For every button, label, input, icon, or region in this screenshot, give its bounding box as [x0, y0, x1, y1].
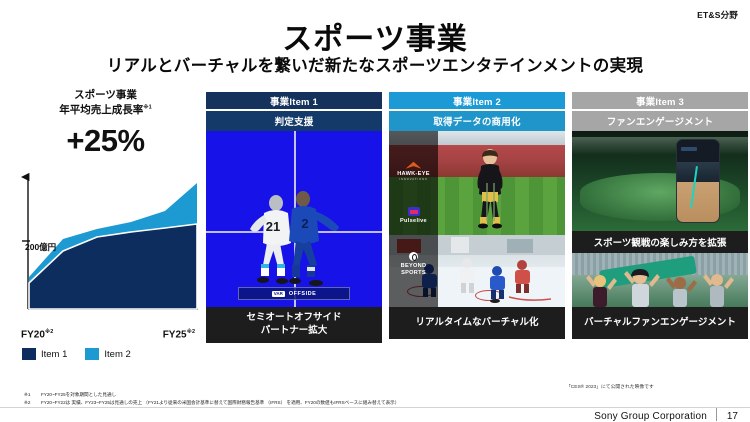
- kpi-chart-block: スポーツ事業 年平均売上成長率※1 +25%: [8, 88, 203, 360]
- panel-3-head: 事業Item 3: [572, 92, 748, 109]
- growth-area-chart: 200億円 FY20※2 FY25※2: [8, 169, 203, 339]
- legend-swatch-item2: [85, 348, 99, 360]
- phone-status-area: [677, 140, 719, 162]
- panel-3-media: スポーツ観戦の楽しみ方を拡張: [572, 131, 748, 307]
- logo-beyond-sports-label: BEYOND SPORTS: [389, 263, 438, 276]
- footnote-text-2: FY20~FY22は 実績、FY23~FY25は見通しの売上 （FY21より従来…: [41, 399, 399, 407]
- footnote-text-1: FY20~FY25を対象期間とした見通し: [41, 391, 116, 399]
- kpi-label-superscript: ※1: [143, 105, 151, 111]
- player-blue: 2: [289, 191, 339, 286]
- legend-label-item2: Item 2: [104, 349, 130, 360]
- panel-1-head: 事業Item 1: [206, 92, 382, 109]
- footer-brand: Sony Group Corporation: [594, 411, 707, 422]
- legend-item-item1: Item 1: [22, 348, 67, 360]
- footer-separator: [716, 408, 717, 421]
- kpi-label: スポーツ事業 年平均売上成長率※1: [8, 88, 203, 118]
- logo-pulselive: Pulselive: [400, 207, 427, 225]
- panel-2-subtitle: 取得データの商用化: [389, 111, 565, 131]
- partner-logos: HAWK-EYE INNOVATIONS Pulselive BEYOND SP…: [389, 131, 438, 307]
- phone-content-area: [677, 162, 719, 184]
- logo-hawk-eye-label: HAWK-EYE: [397, 171, 430, 178]
- fan-avatar-1: [586, 275, 617, 307]
- panel-2-caption: リアルタイムなバーチャル化: [389, 307, 565, 339]
- cricket-player-avatar: [473, 149, 507, 229]
- hawk-eye-icon: [405, 162, 421, 169]
- logo-pulselive-label: Pulselive: [400, 218, 427, 225]
- panel-3-subtitle: ファンエンゲージメント: [572, 111, 748, 131]
- legend-item-item2: Item 2: [85, 348, 130, 360]
- var-offside-overlay: VAR OFFSIDE: [238, 287, 350, 300]
- fan-avatar-4: [703, 274, 734, 307]
- kpi-label-line1: スポーツ事業: [8, 88, 203, 103]
- svg-text:21: 21: [266, 219, 280, 234]
- chart-x-label-end-text: FY25: [163, 329, 187, 340]
- phone-app-bar: [681, 147, 697, 151]
- panel-2-head: 事業Item 2: [389, 92, 565, 109]
- legend-label-item1: Item 1: [41, 349, 67, 360]
- phone-ar-view: [677, 182, 719, 222]
- hockey-player-3: [490, 266, 505, 299]
- panel-3-caption: バーチャルファンエンゲージメント: [572, 307, 748, 339]
- kpi-label-line2-text: 年平均売上成長率: [59, 104, 143, 116]
- smartphone-device: [676, 139, 720, 223]
- chart-x-label-end-sup: ※2: [187, 329, 195, 335]
- panel-1-subtitle: 判定支援: [206, 111, 382, 131]
- kpi-label-line2: 年平均売上成長率※1: [8, 103, 203, 118]
- fan-avatar-2: [624, 269, 660, 307]
- slide-root: ET&S分野 スポーツ事業 リアルとバーチャルを繋いだ新たなスポーツエンタテイン…: [0, 0, 750, 422]
- stadium-lights: [572, 137, 748, 155]
- beyond-sports-icon: [409, 252, 418, 261]
- logo-hawk-eye: HAWK-EYE INNOVATIONS: [397, 162, 430, 181]
- chart-x-label-end: FY25※2: [163, 329, 195, 340]
- stadium-ar-scene: [572, 131, 748, 231]
- chart-area-item1: [29, 224, 197, 309]
- footer-page-number: 17: [727, 411, 738, 422]
- footnote-row-1: ※1 FY20~FY25を対象期間とした見通し: [24, 391, 454, 399]
- panel-business-item-3[interactable]: 事業Item 3 ファンエンゲージメント スポー: [572, 92, 748, 343]
- panel-2-media: HAWK-EYE INNOVATIONS Pulselive BEYOND SP…: [389, 131, 565, 307]
- chart-x-label-start: FY20※2: [21, 329, 53, 340]
- footnote-row-2: ※2 FY20~FY22は 実績、FY23~FY25は見通しの売上 （FY21よ…: [24, 399, 454, 407]
- logo-hawk-eye-sub: INNOVATIONS: [399, 178, 427, 181]
- svg-text:2: 2: [301, 216, 308, 231]
- footnote-mark-2: ※2: [24, 399, 36, 407]
- legend-swatch-item1: [22, 348, 36, 360]
- footer-divider: [0, 407, 750, 408]
- players-graphic: 21 2: [206, 131, 382, 307]
- var-badge: VAR: [272, 291, 285, 297]
- hockey-player-4: [515, 260, 530, 293]
- panel-1-media: 21 2: [206, 131, 382, 307]
- panel-business-item-2[interactable]: 事業Item 2 取得データの商用化: [389, 92, 565, 343]
- panel-1-caption-line1: セミオートオフサイド: [246, 312, 341, 325]
- hockey-player-2: [460, 258, 475, 293]
- chart-x-label-start-sup: ※2: [45, 329, 53, 335]
- player-white: 21: [250, 195, 291, 284]
- panel-1-caption: セミオートオフサイド パートナー拡大: [206, 307, 382, 343]
- logo-beyond-sports: BEYOND SPORTS: [389, 252, 438, 276]
- chart-x-label-start-text: FY20: [21, 329, 45, 340]
- pulselive-icon: [408, 207, 420, 216]
- page-subtitle: リアルとバーチャルを繋いだ新たなスポーツエンタテインメントの実現: [0, 52, 750, 76]
- fan-avatars-graphic: [572, 253, 748, 307]
- footnote-mark-1: ※1: [24, 391, 36, 399]
- footnotes: ※1 FY20~FY25を対象期間とした見通し ※2 FY20~FY22は 実績…: [24, 391, 454, 407]
- photo-source-note: 「CES® 2023」にて公開された映像です: [566, 383, 654, 390]
- panel-1-caption-line2: パートナー拡大: [261, 325, 328, 338]
- chart-y-tick-label: 200億円: [25, 241, 56, 253]
- panel-business-item-1[interactable]: 事業Item 1 判定支援: [206, 92, 382, 343]
- panel-2-caption-line1: リアルタイムなバーチャル化: [415, 317, 538, 330]
- virtual-fans-scene: [572, 253, 748, 307]
- panel-3-overlay-band: スポーツ観戦の楽しみ方を拡張: [572, 231, 748, 253]
- kpi-value: +25%: [8, 123, 203, 159]
- chart-legend: Item 1 Item 2: [8, 348, 203, 360]
- var-offside-text: OFFSIDE: [289, 291, 316, 297]
- business-item-panels: 事業Item 1 判定支援: [206, 92, 748, 343]
- fan-avatar-3: [666, 277, 697, 307]
- panel-3-caption-line1: バーチャルファンエンゲージメント: [584, 317, 736, 330]
